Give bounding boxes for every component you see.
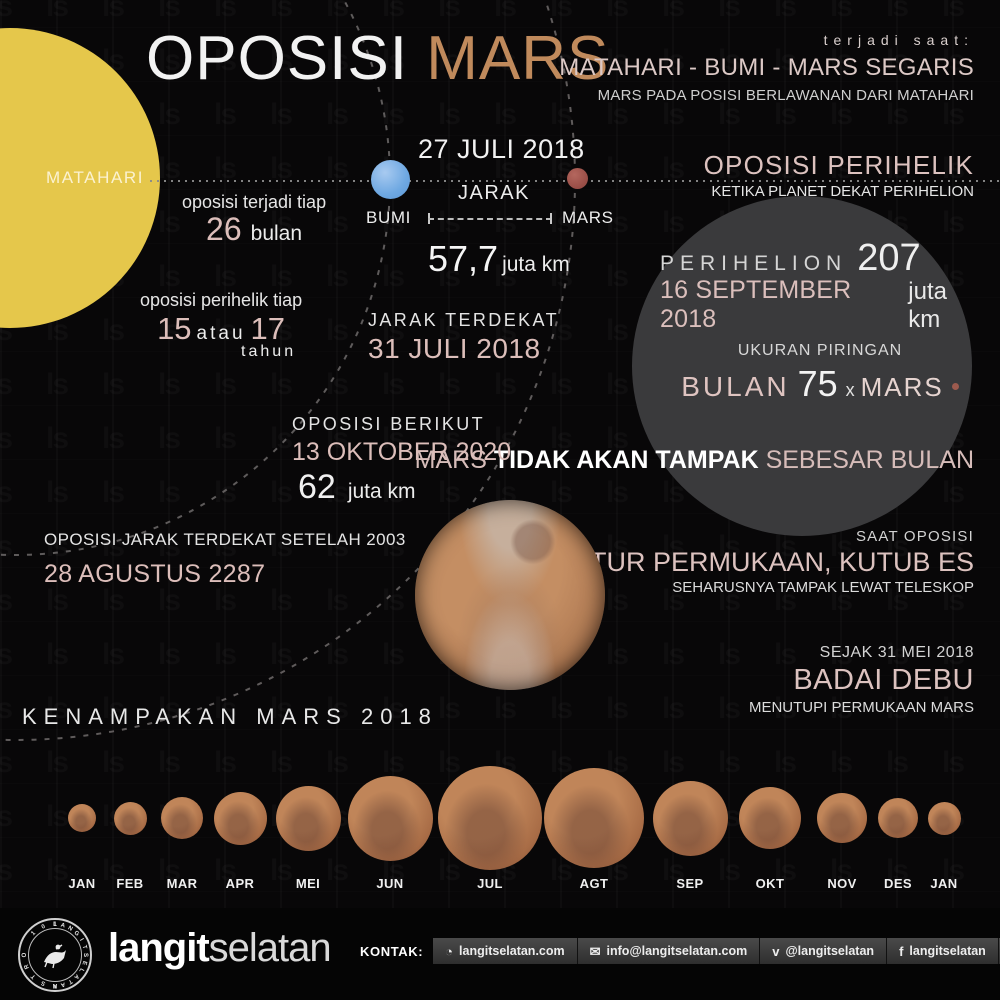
contact-mail[interactable]: ✉info@langitselatan.com	[578, 938, 761, 964]
perihelion-row-1: PERIHELION 207	[660, 240, 980, 276]
fitur-sub: SEHARUSNYA TAMPAK LEWAT TELESKOP	[566, 579, 974, 596]
seal-char: N	[67, 925, 74, 932]
seal-char: 0	[41, 924, 46, 931]
ukuran-piringan-block: UKURAN PIRINGAN BULAN 75 x MARS	[660, 342, 980, 405]
mars-disk-jun-5	[348, 776, 433, 861]
kontak-label: KONTAK:	[360, 944, 423, 959]
month-label-mar-2: MAR	[167, 876, 198, 891]
month-label-des-11: DES	[884, 876, 912, 891]
perihelion-keyword: PERIHELION	[660, 252, 847, 276]
mars-disk-apr-3	[214, 792, 267, 845]
facebook-icon: f	[899, 945, 903, 958]
brand-selatan: selatan	[209, 926, 331, 970]
terdekat-2003-label: OPOSISI JARAK TERDEKAT SETELAH 2003	[44, 530, 406, 550]
ukuran-piringan-caption: UKURAN PIRINGAN	[660, 342, 980, 360]
oposisi-berikut-value: 62	[298, 468, 336, 507]
fitur-permukaan-block: SAAT OPOSISI FITUR PERMUKAAN, KUTUB ES S…	[566, 528, 974, 596]
contact-text: langitselatan	[909, 944, 985, 958]
seal-char: A	[60, 981, 66, 988]
oposisi-berikut-row: 62 juta km	[292, 468, 511, 507]
jarak-terdekat-date: 31 JULI 2018	[368, 333, 559, 365]
seal-char: S	[82, 953, 88, 957]
bulan-multiplier: 75	[798, 363, 838, 405]
month-label-sep-8: SEP	[676, 876, 703, 891]
distance-value: 57,7	[428, 238, 498, 280]
seal-char: E	[81, 960, 88, 965]
month-label-feb-1: FEB	[116, 876, 143, 891]
jarak-terdekat-label: JARAK TERDEKAT	[368, 310, 559, 331]
stat15-conjunction: atau	[197, 323, 246, 345]
mars-disk-jan-0	[68, 804, 96, 832]
contact-text: langitselatan.com	[459, 944, 565, 958]
distance-measure-bar	[428, 213, 552, 215]
fitur-heading: FITUR PERMUKAAN, KUTUB ES	[566, 547, 974, 578]
seal-char: O	[22, 953, 28, 958]
mars-disk-nov-10	[817, 793, 867, 843]
contact-text: info@langitselatan.com	[607, 944, 748, 958]
seal-char: T	[81, 945, 88, 950]
jarak-label: JARAK	[458, 182, 530, 205]
terjadi-saat-label: terjadi saat:	[559, 32, 974, 48]
mars-photo	[415, 500, 605, 690]
contact-bar: KONTAK: ◔langitselatan.com✉info@langitse…	[360, 938, 1000, 964]
month-label-jun-5: JUN	[376, 876, 403, 891]
mail-icon: ✉	[590, 945, 601, 958]
alignment-subtext: MARS PADA POSISI BERLAWANAN DARI MATAHAR…	[559, 87, 974, 104]
oposisi-perihelik-heading: OPOSISI PERIHELIK	[704, 150, 974, 181]
mars-planet-icon	[567, 168, 588, 189]
fitur-saat-oposisi: SAAT OPOSISI	[566, 528, 974, 545]
tampak-bold: TIDAK AKAN TAMPAK	[494, 446, 759, 474]
seal-char: 1	[53, 922, 56, 928]
distance-readout: 57,7 juta km	[428, 238, 570, 280]
mars-disk-jul-6	[438, 766, 542, 870]
seal-char: L	[77, 967, 84, 973]
month-label-jan-12: JAN	[930, 876, 957, 891]
kenampakan-heading: KENAMPAKAN MARS 2018	[22, 704, 438, 730]
perihelion-unit: juta km	[908, 278, 980, 334]
alignment-statement: MATAHARI - BUMI - MARS SEGARIS	[559, 54, 974, 82]
oposisi-berikut-block: OPOSISI BERIKUT 13 OKTOBER 2020 62 juta …	[292, 414, 511, 507]
stat15-text: oposisi perihelik tiap	[140, 290, 302, 311]
stat15-row: 15 atau 17	[140, 311, 302, 347]
seal-char: A	[73, 973, 80, 980]
stat15-number-2: 17	[251, 311, 285, 347]
page-title: OPOSISI MARS	[146, 28, 609, 90]
badai-debu-block: SEJAK 31 MEI 2018 BADAI DEBU MENUTUPI PE…	[749, 644, 974, 716]
month-label-mei-4: MEI	[296, 876, 320, 891]
mars-label-ukuran: MARS	[861, 372, 944, 403]
title-part-oposisi: OPOSISI	[146, 24, 408, 93]
stat26-text: oposisi terjadi tiap	[182, 192, 326, 213]
times-symbol: x	[846, 380, 855, 401]
month-label-apr-3: APR	[226, 876, 255, 891]
tampak-post: SEBESAR BULAN	[759, 446, 974, 474]
badai-heading: BADAI DEBU	[749, 664, 974, 697]
mars-disk-sep-8	[653, 781, 728, 856]
terdekat-2003-date: 28 AGUSTUS 2287	[44, 560, 406, 589]
stat26-row: 26 bulan	[182, 211, 326, 248]
mars-disk-feb-1	[114, 802, 147, 835]
earth-label: BUMI	[366, 208, 411, 228]
contact-text: @langitselatan	[785, 944, 874, 958]
oposisi-perihelik-sub: KETIKA PLANET DEKAT PERIHELION	[704, 183, 974, 200]
terdekat-2003-block: OPOSISI JARAK TERDEKAT SETELAH 2003 28 A…	[44, 530, 406, 589]
month-label-jan-0: JAN	[68, 876, 95, 891]
horse-rider-icon	[38, 938, 72, 972]
month-label-okt-9: OKT	[756, 876, 785, 891]
mars-disk-mar-2	[161, 797, 203, 839]
bulan-label: BULAN	[681, 371, 789, 403]
mars-disk-jan-12	[928, 802, 961, 835]
mars-disk-mei-4	[276, 786, 341, 851]
stat-oposisi-perihelik-tiap: oposisi perihelik tiap 15 atau 17 tahun	[140, 290, 302, 361]
seal-char: T	[67, 977, 73, 984]
contact-rss[interactable]: ◔langitselatan.com	[433, 938, 577, 964]
mars-size-dot-icon	[952, 383, 959, 390]
mars-label: MARS	[562, 208, 614, 228]
measure-cap-right	[550, 213, 552, 224]
stat15-number-1: 15	[157, 311, 191, 347]
seal-char: I	[78, 938, 84, 942]
badai-date: SEJAK 31 MEI 2018	[749, 644, 974, 662]
twitter-icon: ᴠ	[772, 945, 779, 958]
month-label-jul-6: JUL	[477, 876, 503, 891]
perihelion-data-block: PERIHELION 207 16 SEPTEMBER 2018 juta km	[660, 240, 980, 334]
jarak-terdekat-block: JARAK TERDEKAT 31 JULI 2018	[368, 310, 559, 365]
oposisi-berikut-date: 13 OKTOBER 2020	[292, 438, 511, 467]
oposisi-berikut-label: OPOSISI BERIKUT	[292, 414, 511, 435]
month-label-nov-10: NOV	[827, 876, 856, 891]
oposisi-berikut-unit: juta km	[348, 480, 416, 504]
seal-char: R	[24, 963, 31, 969]
earth-planet-icon	[371, 160, 410, 199]
perihelion-value: 207	[857, 240, 920, 276]
stat26-number: 26	[206, 211, 242, 248]
mars-disk-des-11	[878, 798, 918, 838]
badai-sub: MENUTUPI PERMUKAAN MARS	[749, 699, 974, 716]
mars-disk-okt-9	[739, 787, 801, 849]
measure-line	[428, 218, 552, 220]
rss-icon: ◔	[445, 945, 453, 958]
perihelion-date: 16 SEPTEMBER 2018	[660, 276, 896, 334]
brand-langit: langit	[108, 926, 209, 970]
distance-unit: juta km	[502, 253, 570, 277]
stat26-unit: bulan	[251, 222, 302, 246]
seal-char: A	[53, 982, 57, 988]
terjadi-saat-block: terjadi saat: MATAHARI - BUMI - MARS SEG…	[559, 32, 974, 104]
contact-twitter[interactable]: ᴠ@langitselatan	[760, 938, 887, 964]
brand-wordmark: langitselatan	[108, 928, 331, 968]
month-label-agt-7: AGT	[580, 876, 609, 891]
seal-char: A	[60, 923, 66, 930]
langitselatan-seal-logo: LANGITSELATANASTRO 101	[18, 918, 92, 992]
seal-char: S	[41, 979, 47, 986]
opposition-date: 27 JULI 2018	[418, 134, 585, 165]
oposisi-perihelik-block: OPOSISI PERIHELIK KETIKA PLANET DEKAT PE…	[704, 150, 974, 200]
infographic-poster: lslslslslslslslslslslslslslslslslslslsls…	[0, 0, 1000, 1000]
contact-facebook[interactable]: flangitselatan	[887, 938, 999, 964]
perihelion-row-2: 16 SEPTEMBER 2018 juta km	[660, 276, 980, 334]
stat-oposisi-tiap-26-bulan: oposisi terjadi tiap 26 bulan	[182, 192, 326, 248]
seal-char: T	[30, 973, 37, 980]
mars-disk-agt-7	[544, 768, 644, 868]
ukuran-piringan-row: BULAN 75 x MARS	[660, 363, 980, 405]
